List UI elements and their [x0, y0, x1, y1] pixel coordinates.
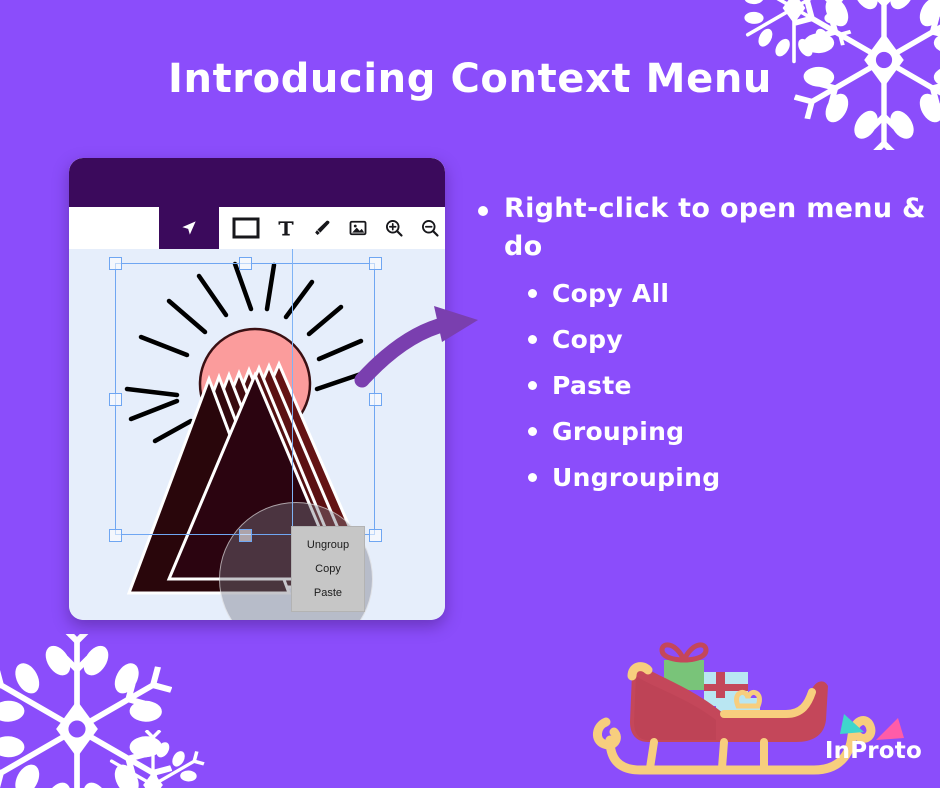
- snowflake-icon: [0, 634, 172, 788]
- list-item: Ungrouping: [528, 463, 928, 492]
- context-menu[interactable]: Ungroup Copy Paste: [291, 526, 365, 612]
- alignment-guide: [292, 249, 293, 573]
- rectangle-tool[interactable]: [231, 215, 261, 241]
- selection-handle[interactable]: [369, 257, 382, 270]
- brand-name: InProto: [825, 738, 922, 764]
- brush-icon: [312, 218, 332, 238]
- sub-bullet-label-paste: Paste: [552, 371, 632, 400]
- bullet-dot-icon: [528, 335, 537, 344]
- selection-handle[interactable]: [109, 529, 122, 542]
- image-icon: [348, 218, 368, 238]
- design-canvas[interactable]: Ungroup Copy Paste: [69, 249, 445, 620]
- brush-tool[interactable]: [311, 217, 333, 239]
- cursor-tool[interactable]: [159, 207, 219, 249]
- list-item: Paste: [528, 371, 928, 400]
- snowflake-icon: [98, 730, 208, 788]
- list-item: Copy All: [528, 279, 928, 308]
- main-bullet-label: Right-click to open menu & do: [504, 190, 928, 267]
- text-icon: [276, 218, 296, 238]
- bullet-dot-icon: [528, 427, 537, 436]
- selection-handle[interactable]: [109, 393, 122, 406]
- selection-handle[interactable]: [239, 257, 252, 270]
- brand-logo: InProto: [810, 706, 930, 764]
- bullet-dot-icon: [478, 206, 488, 216]
- selection-handle[interactable]: [239, 529, 252, 542]
- app-mockup-window: Ungroup Copy Paste: [69, 158, 445, 620]
- context-menu-item-paste[interactable]: Paste: [292, 581, 364, 605]
- zoom-in-tool[interactable]: [383, 217, 405, 239]
- rectangle-icon: [232, 217, 260, 239]
- drawing-toolbar: [219, 207, 445, 249]
- image-tool[interactable]: [347, 217, 369, 239]
- sub-bullet-list: Copy All Copy Paste Grouping Ungrouping: [478, 279, 928, 492]
- window-titlebar: [69, 158, 445, 207]
- sleigh-supports: [650, 742, 764, 768]
- bullet-dot-icon: [528, 289, 537, 298]
- sub-bullet-label-ungrouping: Ungrouping: [552, 463, 720, 492]
- bullet-dot-icon: [528, 381, 537, 390]
- context-menu-item-ungroup[interactable]: Ungroup: [292, 533, 364, 557]
- bullet-dot-icon: [528, 473, 537, 482]
- panel-tab-blank[interactable]: [69, 207, 159, 249]
- zoom-out-icon: [420, 218, 440, 238]
- sub-bullet-label-grouping: Grouping: [552, 417, 684, 446]
- context-menu-item-copy[interactable]: Copy: [292, 557, 364, 581]
- sub-bullet-label-copy: Copy: [552, 325, 623, 354]
- zoom-out-tool[interactable]: [419, 217, 441, 239]
- list-item: Grouping: [528, 417, 928, 446]
- bullet-copy: Right-click to open menu & do Copy All C…: [478, 190, 928, 509]
- selection-handle[interactable]: [369, 529, 382, 542]
- selection-handle[interactable]: [369, 393, 382, 406]
- text-tool[interactable]: [275, 217, 297, 239]
- list-item: Copy: [528, 325, 928, 354]
- selection-handle[interactable]: [109, 257, 122, 270]
- cursor-icon: [179, 218, 199, 238]
- zoom-in-icon: [384, 218, 404, 238]
- main-bullet-item: Right-click to open menu & do: [478, 190, 928, 267]
- sub-bullet-label-copy-all: Copy All: [552, 279, 669, 308]
- selection-frame[interactable]: [115, 263, 375, 535]
- page-title: Introducing Context Menu: [0, 56, 940, 102]
- slide-canvas: Introducing Context Menu: [0, 0, 940, 788]
- triangle-cyan-icon: [838, 712, 868, 738]
